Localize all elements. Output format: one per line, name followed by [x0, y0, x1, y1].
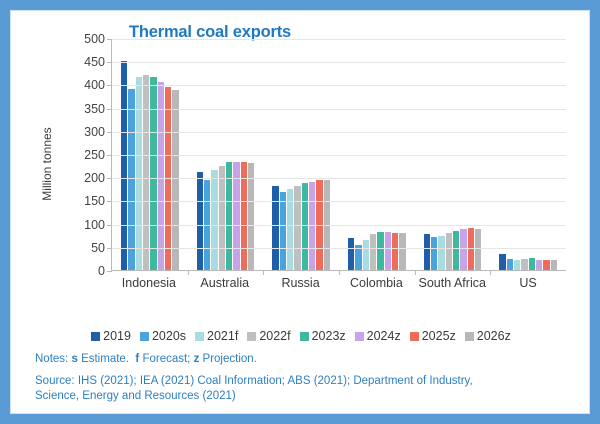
legend-label: 2026z [477, 329, 511, 343]
notes-key-s: s [71, 353, 77, 365]
source-line-1: Source: IHS (2021); IEA (2021) Coal Info… [35, 374, 580, 390]
y-tick-mark [107, 201, 112, 202]
bar[interactable] [348, 238, 354, 270]
bar[interactable] [446, 233, 452, 270]
y-tick-label: 50 [63, 241, 105, 255]
legend-item[interactable]: 2022f [247, 329, 290, 343]
notes-text-f: Forecast; [142, 353, 190, 365]
notes-text-z: Projection. [203, 353, 257, 365]
notes-key-f: f [135, 353, 139, 365]
legend-item[interactable]: 2024z [355, 329, 401, 343]
bar[interactable] [211, 170, 217, 270]
bar[interactable] [399, 233, 405, 270]
y-tick-label: 150 [63, 194, 105, 208]
x-tick-label: Australia [187, 277, 263, 290]
y-tick-label: 350 [63, 102, 105, 116]
legend-swatch-icon [195, 332, 204, 341]
legend-item[interactable]: 2019 [91, 329, 131, 343]
bar[interactable] [294, 186, 300, 270]
legend-swatch-icon [91, 332, 100, 341]
gridline [112, 178, 566, 179]
bar[interactable] [468, 228, 474, 270]
legend-swatch-icon [410, 332, 419, 341]
legend-label: 2025z [422, 329, 456, 343]
bar[interactable] [460, 229, 466, 270]
legend-swatch-icon [300, 332, 309, 341]
legend-label: 2020s [152, 329, 186, 343]
notes-label: Notes: [35, 353, 68, 365]
bar[interactable] [514, 260, 520, 270]
y-tick-label: 450 [63, 55, 105, 69]
legend-swatch-icon [247, 332, 256, 341]
legend-label: 2019 [103, 329, 131, 343]
bar[interactable] [150, 77, 156, 270]
y-tick-mark [107, 248, 112, 249]
bar[interactable] [536, 260, 542, 270]
y-axis-label: Million tonnes [40, 104, 54, 224]
bar[interactable] [438, 236, 444, 270]
bar[interactable] [128, 89, 134, 270]
x-tick-label: US [490, 277, 566, 290]
gridline [112, 155, 566, 156]
bar[interactable] [543, 260, 549, 270]
y-tick-label: 400 [63, 78, 105, 92]
bar[interactable] [355, 245, 361, 270]
source-line-2: Science, Energy and Resources (2021) [35, 389, 580, 405]
y-tick-mark [107, 39, 112, 40]
gridline [112, 109, 566, 110]
bar[interactable] [309, 182, 315, 270]
y-tick-label: 0 [63, 264, 105, 278]
legend-label: 2023z [312, 329, 346, 343]
gridline [112, 85, 566, 86]
bar[interactable] [197, 172, 203, 270]
bar[interactable] [529, 258, 535, 270]
bar[interactable] [158, 82, 164, 270]
x-axis-labels: IndonesiaAustraliaRussiaColombiaSouth Af… [111, 277, 566, 290]
bar[interactable] [143, 75, 149, 270]
bar[interactable] [370, 234, 376, 270]
y-tick-label: 300 [63, 125, 105, 139]
bar[interactable] [551, 260, 557, 270]
chart-legend: 20192020s2021f2022f2023z2024z2025z2026z [11, 329, 591, 343]
legend-item[interactable]: 2020s [140, 329, 186, 343]
bar[interactable] [219, 166, 225, 270]
x-tick-label: Indonesia [111, 277, 187, 290]
bar[interactable] [475, 229, 481, 270]
y-tick-mark [107, 178, 112, 179]
bar[interactable] [521, 259, 527, 270]
bar[interactable] [392, 233, 398, 270]
bar[interactable] [136, 77, 142, 270]
plot-area: Million tonnes 5004504003503002502001501… [11, 39, 591, 307]
plot-canvas [111, 39, 566, 271]
legend-label: 2021f [207, 329, 238, 343]
y-tick-label: 250 [63, 148, 105, 162]
y-tick-mark [107, 62, 112, 63]
y-tick-label: 100 [63, 218, 105, 232]
notes-text-s: Estimate. [81, 353, 129, 365]
bar[interactable] [377, 232, 383, 270]
bar[interactable] [121, 61, 127, 270]
y-axis-ticks: 500450400350300250200150100500 [63, 39, 105, 271]
bar[interactable] [363, 240, 369, 270]
legend-item[interactable]: 2023z [300, 329, 346, 343]
y-tick-mark [107, 225, 112, 226]
y-tick-mark [107, 271, 112, 272]
legend-swatch-icon [465, 332, 474, 341]
bar[interactable] [453, 231, 459, 270]
y-tick-label: 500 [63, 32, 105, 46]
legend-swatch-icon [140, 332, 149, 341]
gridline [112, 39, 566, 40]
x-tick-label: South Africa [414, 277, 490, 290]
legend-swatch-icon [355, 332, 364, 341]
x-tick-label: Russia [263, 277, 339, 290]
bar[interactable] [507, 259, 513, 270]
bar[interactable] [424, 234, 430, 270]
gridline [112, 62, 566, 63]
y-tick-mark [107, 109, 112, 110]
footnotes: Notes: s Estimate. f Forecast; z Project… [35, 352, 580, 405]
legend-item[interactable]: 2026z [465, 329, 511, 343]
bar[interactable] [272, 186, 278, 270]
chart-card: Thermal coal exports Million tonnes 5004… [10, 10, 590, 414]
bar[interactable] [499, 254, 505, 270]
legend-item[interactable]: 2025z [410, 329, 456, 343]
bar[interactable] [385, 232, 391, 270]
gridline [112, 225, 566, 226]
y-tick-mark [107, 132, 112, 133]
notes-key-z: z [194, 353, 200, 365]
bar[interactable] [248, 163, 254, 270]
gridline [112, 201, 566, 202]
y-tick-mark [107, 155, 112, 156]
bar[interactable] [431, 237, 437, 270]
gridline [112, 132, 566, 133]
legend-label: 2022f [259, 329, 290, 343]
legend-item[interactable]: 2021f [195, 329, 238, 343]
legend-label: 2024z [367, 329, 401, 343]
notes-line: Notes: s Estimate. f Forecast; z Project… [35, 352, 580, 368]
gridline [112, 248, 566, 249]
y-tick-mark [107, 85, 112, 86]
bar[interactable] [280, 192, 286, 270]
x-tick-label: Colombia [338, 277, 414, 290]
y-tick-label: 200 [63, 171, 105, 185]
bar[interactable] [172, 90, 178, 270]
bar[interactable] [302, 183, 308, 270]
